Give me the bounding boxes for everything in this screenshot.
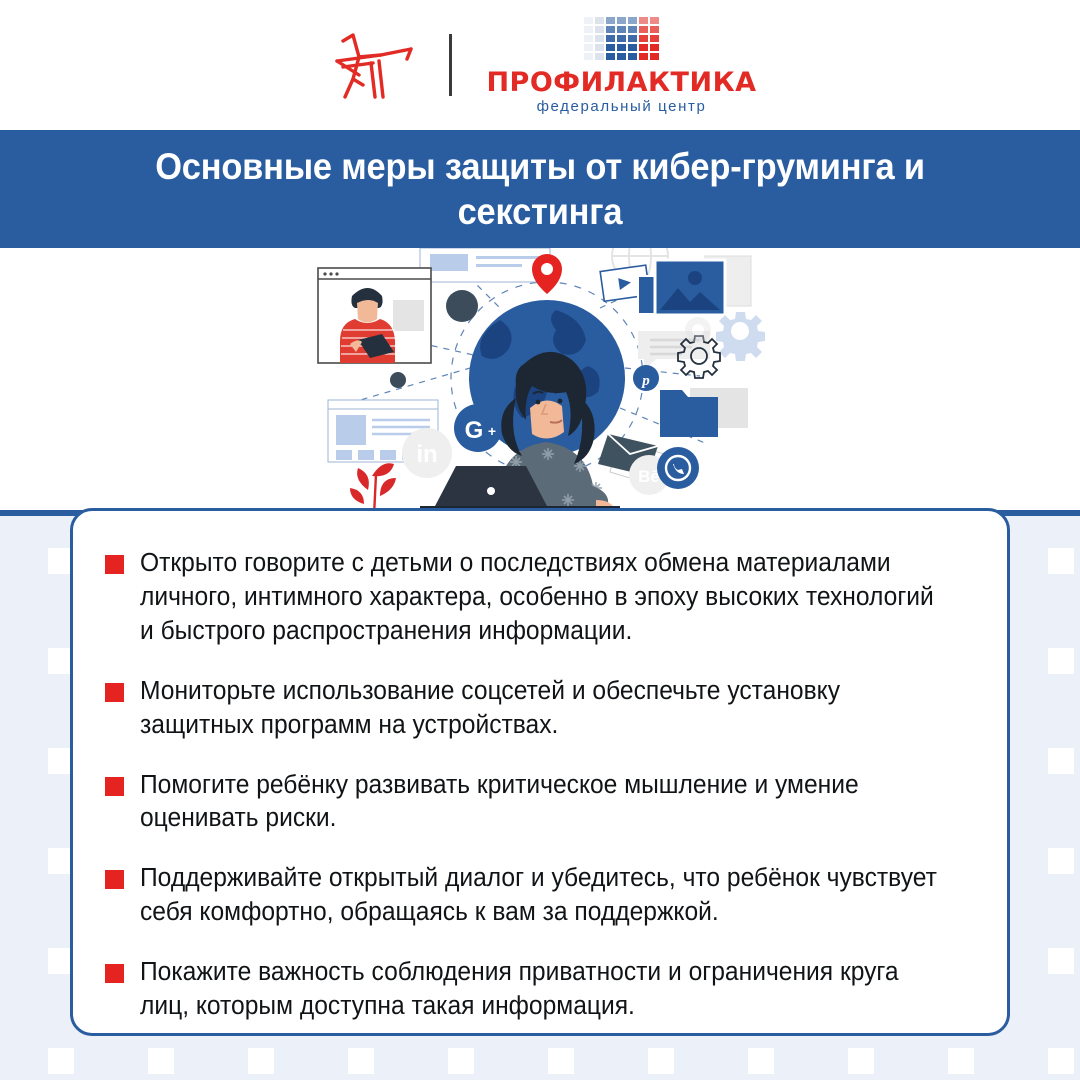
- logo-grid-cell: [628, 53, 637, 60]
- bullet-marker: [105, 870, 124, 889]
- browser-window-with-man-holding-tablet: [318, 268, 431, 363]
- logo-grid-cell: [584, 26, 593, 33]
- logo-grid-cell: [650, 17, 659, 24]
- logo-grid-cell: [595, 17, 604, 24]
- chair-line-drawing-icon: [323, 27, 415, 103]
- bullet-marker: [105, 555, 124, 574]
- logo-grid-cell: [617, 35, 626, 42]
- logo-grid-cell: [617, 53, 626, 60]
- svg-text:in: in: [416, 441, 437, 468]
- bullet-marker: [105, 964, 124, 983]
- logo-grid-cell: [606, 35, 615, 42]
- logo-divider: [449, 34, 452, 96]
- hero-illustration: in G + p Bē: [0, 248, 1080, 516]
- list-item: Помогите ребёнку развивать критическое м…: [105, 769, 967, 837]
- logo-grid-cell: [595, 53, 604, 60]
- tips-card: Открыто говорите с детьми о последствиях…: [70, 508, 1010, 1036]
- logo-grid-cell: [617, 26, 626, 33]
- logo-grid-cell: [584, 53, 593, 60]
- content-card-icon: [420, 248, 550, 282]
- list-item: Покажите важность соблюдения приватности…: [105, 956, 967, 1024]
- decorative-dot: [446, 290, 478, 322]
- page-title: Основные меры защиты от кибер-груминга и…: [131, 144, 949, 234]
- svg-text:p: p: [640, 373, 650, 389]
- svg-text:+: +: [488, 423, 496, 439]
- logo-grid-cell: [595, 26, 604, 33]
- brand-name: ПРОФИЛАКТИКА: [486, 69, 756, 96]
- logo-grid-cell: [606, 26, 615, 33]
- logo-grid-cell: [650, 35, 659, 42]
- logo-grid-cell: [650, 26, 659, 33]
- list-item: Открыто говорите с детьми о последствиях…: [105, 547, 967, 649]
- logo-grid-cell: [639, 35, 648, 42]
- tip-text: Поддерживайте открытый диалог и убедитес…: [140, 862, 938, 930]
- google-plus-icon: G +: [454, 404, 502, 452]
- list-item: Поддерживайте открытый диалог и убедитес…: [105, 862, 967, 930]
- bullet-marker: [105, 777, 124, 796]
- logo-grid-cell: [595, 35, 604, 42]
- bullet-marker: [105, 683, 124, 702]
- tip-text: Открыто говорите с детьми о последствиях…: [140, 547, 938, 649]
- logo-grid-cell: [639, 53, 648, 60]
- pixel-grid-logo-icon: [584, 17, 659, 60]
- logo-grid-cell: [595, 44, 604, 51]
- logo-grid-cell: [584, 44, 593, 51]
- logo-grid-cell: [628, 35, 637, 42]
- page-header: ПРОФИЛАКТИКА федеральный центр: [0, 0, 1080, 130]
- logo-grid-cell: [584, 17, 593, 24]
- tip-text: Мониторьте использование соцсетей и обес…: [140, 675, 938, 743]
- location-pin-icon: [532, 254, 562, 294]
- gear-icon: [685, 317, 711, 343]
- whatsapp-icon: [657, 447, 699, 489]
- folder-icon: [660, 388, 748, 437]
- logo-grid-cell: [617, 44, 626, 51]
- logo-grid-cell: [650, 44, 659, 51]
- pinterest-icon: p: [633, 365, 659, 391]
- logo-grid-cell: [606, 53, 615, 60]
- logo-grid-cell: [628, 26, 637, 33]
- logo-grid-cell: [606, 17, 615, 24]
- logo-lockup: ПРОФИЛАКТИКА федеральный центр: [323, 17, 756, 114]
- logo-grid-cell: [584, 35, 593, 42]
- logo-grid-cell: [628, 17, 637, 24]
- title-banner: Основные меры защиты от кибер-груминга и…: [0, 130, 1080, 248]
- brand-block: ПРОФИЛАКТИКА федеральный центр: [486, 17, 756, 114]
- linkedin-icon: in: [402, 428, 452, 478]
- tip-text: Помогите ребёнку развивать критическое м…: [140, 769, 938, 837]
- logo-grid-cell: [606, 44, 615, 51]
- decorative-dot: [390, 372, 406, 388]
- photo-gallery-icon: [638, 256, 751, 315]
- tip-text: Покажите важность соблюдения приватности…: [140, 956, 938, 1024]
- list-item: Мониторьте использование соцсетей и обес…: [105, 675, 967, 743]
- logo-grid-cell: [617, 17, 626, 24]
- svg-text:Bē: Bē: [638, 467, 660, 486]
- logo-grid-cell: [639, 44, 648, 51]
- brand-subtitle: федеральный центр: [537, 99, 707, 114]
- logo-grid-cell: [639, 17, 648, 24]
- logo-grid-cell: [628, 44, 637, 51]
- logo-grid-cell: [650, 53, 659, 60]
- gear-icon: [716, 312, 765, 361]
- logo-grid-cell: [639, 26, 648, 33]
- tips-list: Открыто говорите с детьми о последствиях…: [105, 547, 967, 1024]
- svg-text:G: G: [465, 417, 484, 444]
